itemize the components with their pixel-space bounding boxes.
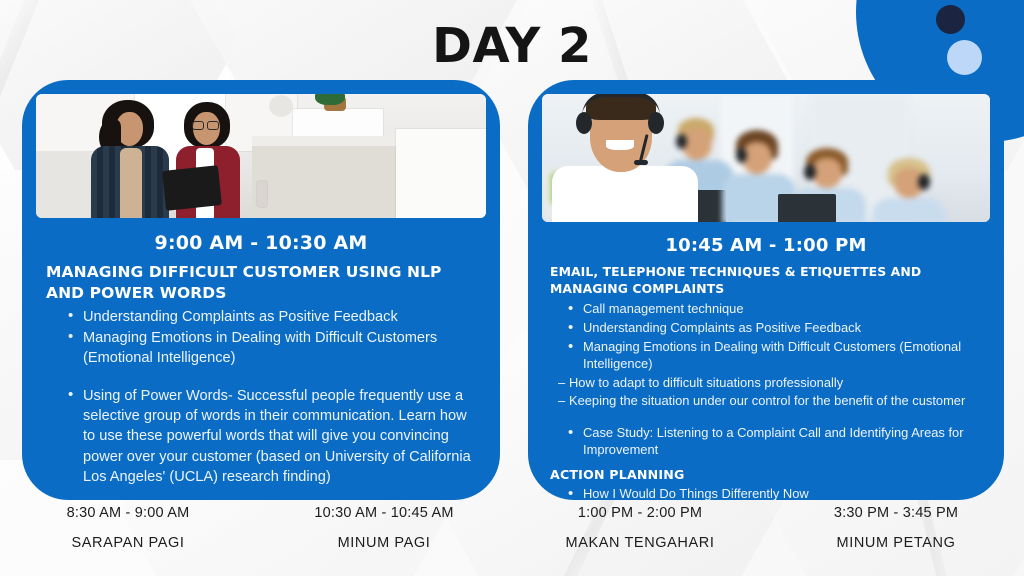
session-2-photo <box>542 94 990 222</box>
breaks-row: 8:30 AM - 9:00 AM SARAPAN PAGI 10:30 AM … <box>0 505 1024 551</box>
session-1-bullet-list: Understanding Complaints as Positive Fee… <box>46 307 476 487</box>
session-2-time: 10:45 AM - 1:00 PM <box>550 235 982 256</box>
break-time: 8:30 AM - 9:00 AM <box>0 505 256 521</box>
break-label: MINUM PETANG <box>768 535 1024 551</box>
session-2-action-list: How I Would Do Things Differently Now Ci… <box>550 485 982 500</box>
list-item: Understanding Complaints as Positive Fee… <box>568 319 982 337</box>
page-title: DAY 2 <box>0 18 1024 74</box>
break-item-minum-petang: 3:30 PM - 3:45 PM MINUM PETANG <box>768 505 1024 551</box>
list-item: Using of Power Words- Successful people … <box>68 386 476 487</box>
list-item: Case Study: Listening to a Complaint Cal… <box>568 424 982 459</box>
list-item: Call management technique <box>568 300 982 318</box>
break-time: 10:30 AM - 10:45 AM <box>256 505 512 521</box>
break-label: MINUM PAGI <box>256 535 512 551</box>
list-item: Managing Emotions in Dealing with Diffic… <box>68 328 476 368</box>
list-item: Understanding Complaints as Positive Fee… <box>68 307 476 327</box>
session-card-1: 9:00 AM - 10:30 AM MANAGING DIFFICULT CU… <box>22 80 500 500</box>
session-1-photo <box>36 94 486 218</box>
session-1-title: MANAGING DIFFICULT CUSTOMER USING NLP AN… <box>46 262 476 304</box>
session-2-title: EMAIL, TELEPHONE TECHNIQUES & ETIQUETTES… <box>550 264 982 297</box>
break-item-sarapan-pagi: 8:30 AM - 9:00 AM SARAPAN PAGI <box>0 505 256 551</box>
session-2-subheading: ACTION PLANNING <box>550 467 982 482</box>
session-2-bullet-list-top: Call management technique Understanding … <box>550 300 982 372</box>
break-label: MAKAN TENGAHARI <box>512 535 768 551</box>
break-item-makan-tengahari: 1:00 PM - 2:00 PM MAKAN TENGAHARI <box>512 505 768 551</box>
break-time: 3:30 PM - 3:45 PM <box>768 505 1024 521</box>
list-item: Keeping the situation under our control … <box>558 392 982 410</box>
session-2-case-study-list: Case Study: Listening to a Complaint Cal… <box>550 424 982 459</box>
break-label: SARAPAN PAGI <box>0 535 256 551</box>
list-item: Managing Emotions in Dealing with Diffic… <box>568 338 982 373</box>
session-card-2: 10:45 AM - 1:00 PM EMAIL, TELEPHONE TECH… <box>528 80 1004 500</box>
list-item: How I Would Do Things Differently Now <box>568 485 982 500</box>
session-2-dash-list: How to adapt to difficult situations pro… <box>550 374 982 410</box>
break-item-minum-pagi: 10:30 AM - 10:45 AM MINUM PAGI <box>256 505 512 551</box>
session-1-time: 9:00 AM - 10:30 AM <box>46 232 476 254</box>
break-time: 1:00 PM - 2:00 PM <box>512 505 768 521</box>
list-item: How to adapt to difficult situations pro… <box>558 374 982 392</box>
